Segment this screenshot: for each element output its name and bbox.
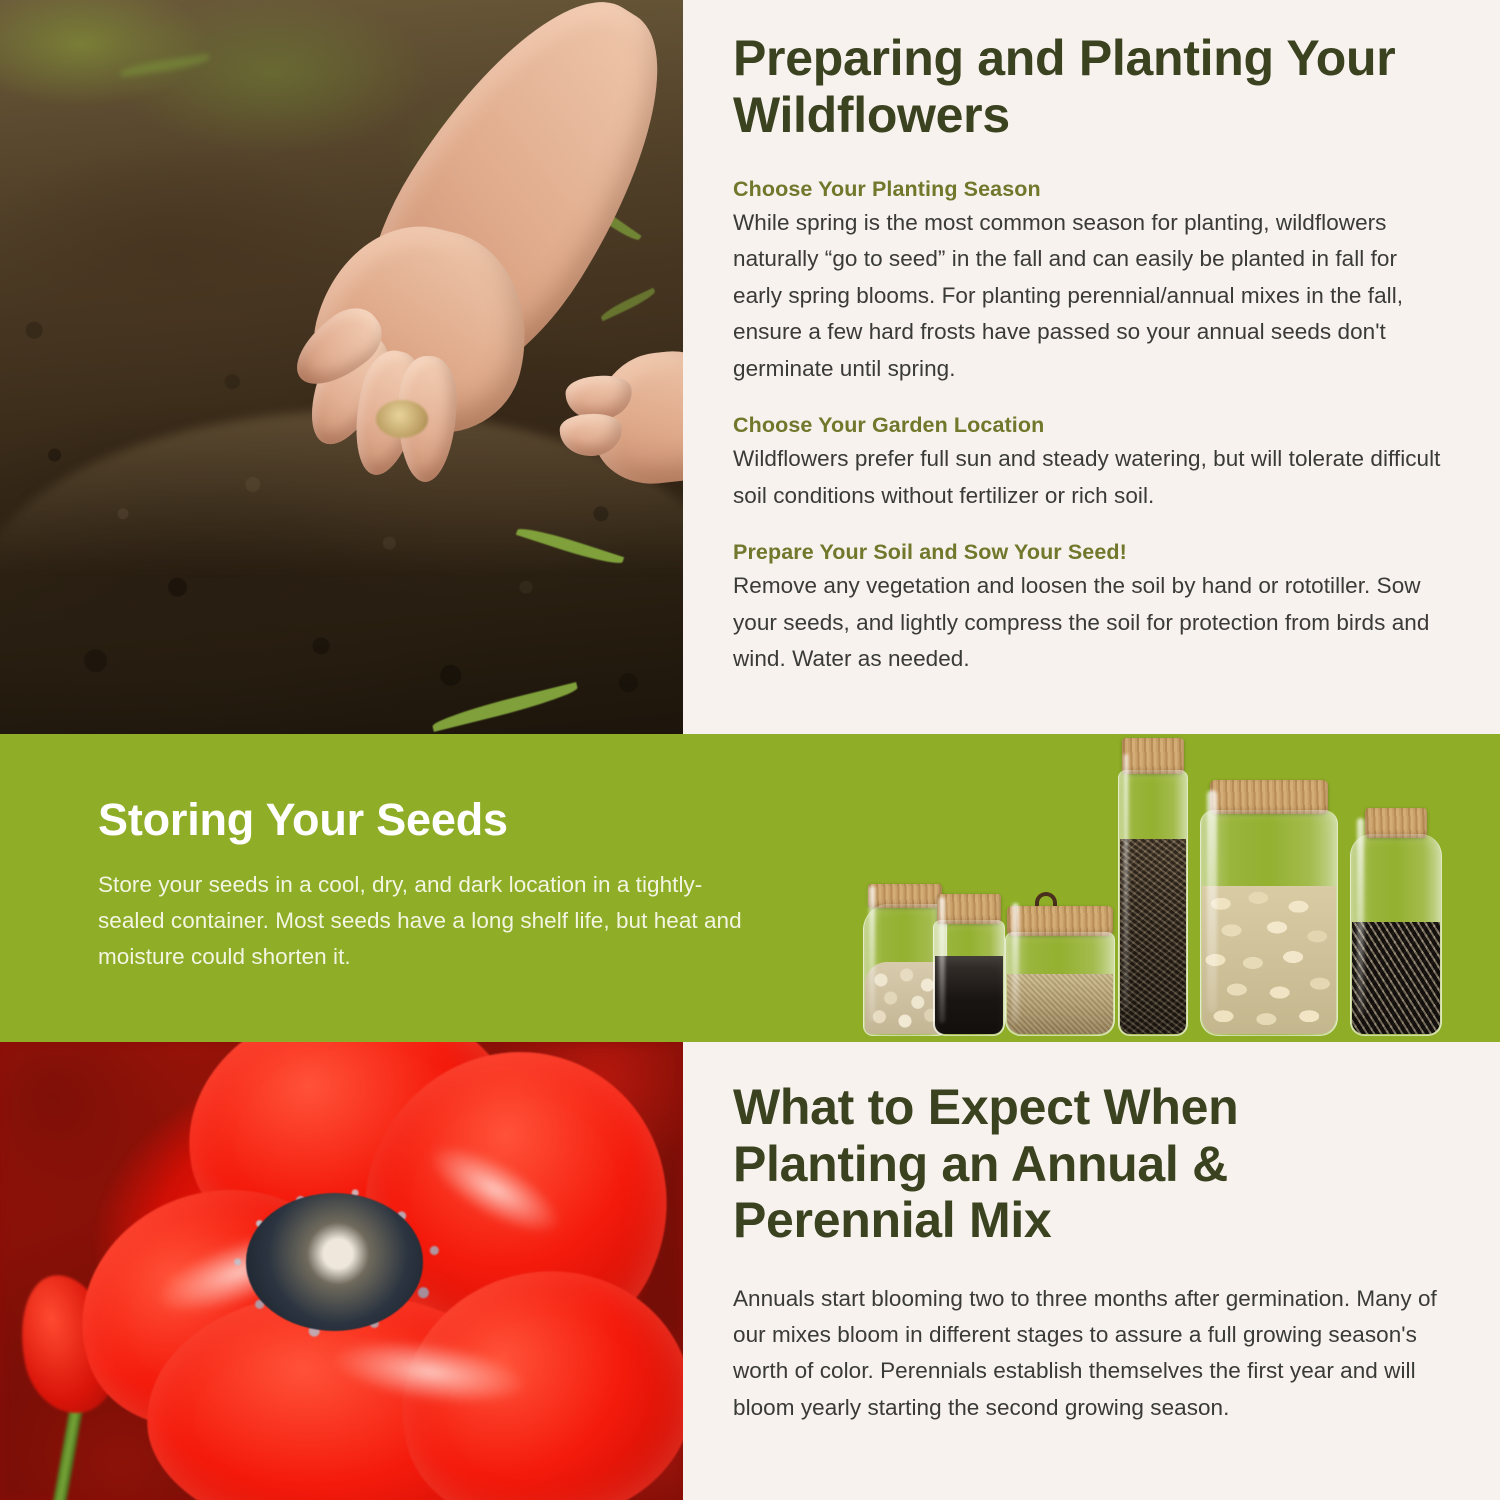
subheading-prepare-soil: Prepare Your Soil and Sow Your Seed! — [733, 540, 1445, 565]
seed-jars-image — [855, 734, 1455, 1042]
infographic-page: Preparing and Planting Your Wildflowers … — [0, 0, 1500, 1500]
glass-highlight — [1124, 754, 1129, 1009]
what-to-expect-paragraph: Annuals start blooming two to three mont… — [733, 1281, 1445, 1427]
section3-text-column: What to Expect When Planting an Annual &… — [733, 1079, 1445, 1426]
red-poppy-image — [0, 1042, 683, 1500]
what-to-expect-title: What to Expect When Planting an Annual &… — [733, 1079, 1445, 1249]
seed-fill — [1202, 886, 1336, 1034]
seed-pinch — [376, 400, 428, 438]
storing-seeds-title: Storing Your Seeds — [98, 795, 748, 845]
section-what-to-expect: What to Expect When Planting an Annual &… — [0, 1042, 1500, 1500]
section-storing-your-seeds: Storing Your Seeds Store your seeds in a… — [0, 734, 1500, 1042]
seed-fill — [1007, 974, 1113, 1034]
cork-lid — [1210, 780, 1328, 814]
seed-jar-pumpkin-seeds — [1200, 774, 1338, 1036]
paragraph-garden-location: Wildflowers prefer full sun and steady w… — [733, 441, 1445, 514]
seed-jar-tall-dark-seed — [1118, 736, 1188, 1036]
page-title: Preparing and Planting Your Wildflowers — [733, 30, 1445, 143]
seed-fill — [1120, 839, 1186, 1034]
seed-jar-sunflower-seeds — [1350, 804, 1442, 1036]
section1-text-column: Preparing and Planting Your Wildflowers … — [733, 30, 1445, 677]
glass-highlight — [869, 886, 875, 1022]
storing-seeds-paragraph: Store your seeds in a cool, dry, and dar… — [98, 867, 748, 976]
glass-highlight — [1012, 903, 1020, 1024]
glass-highlight — [1357, 818, 1363, 1015]
subheading-planting-season: Choose Your Planting Season — [733, 177, 1445, 202]
section2-text-column: Storing Your Seeds Store your seeds in a… — [98, 795, 748, 976]
glass-highlight — [1207, 790, 1217, 1013]
section-preparing-and-planting: Preparing and Planting Your Wildflowers … — [0, 0, 1500, 734]
poppy-center — [246, 1193, 424, 1330]
cork-lid — [1122, 738, 1184, 774]
seed-fill — [1352, 922, 1440, 1034]
paragraph-prepare-soil: Remove any vegetation and loosen the soi… — [733, 568, 1445, 677]
seed-jar-black-seeds — [933, 888, 1005, 1036]
seed-jar-fine-tan-seed — [1005, 894, 1115, 1036]
hands-sowing-seeds-image — [0, 0, 683, 734]
paragraph-planting-season: While spring is the most common season f… — [733, 205, 1445, 387]
seed-fill — [935, 956, 1003, 1034]
subheading-garden-location: Choose Your Garden Location — [733, 413, 1445, 438]
glass-highlight — [939, 897, 944, 1023]
